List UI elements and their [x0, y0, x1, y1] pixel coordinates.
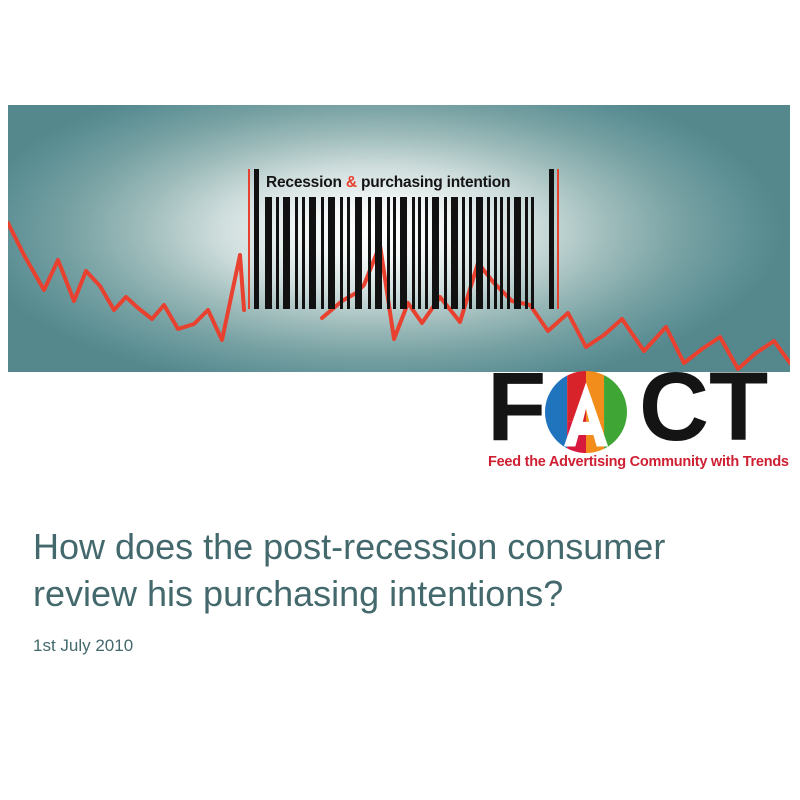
- barcode-left-black-guard: [254, 169, 259, 309]
- barcode-left-red-guard: [248, 169, 250, 309]
- fact-logo: F C: [487, 368, 792, 478]
- fact-tagline: Feed the Advertising Community with Tren…: [488, 454, 793, 470]
- trend-line-left: [8, 223, 244, 340]
- barcode-right-red-guard: [557, 169, 559, 309]
- barcode-caption-text: Recession & purchasing intention: [266, 170, 538, 195]
- fact-letter-f: F: [487, 365, 544, 449]
- barcode-right-black-guard: [549, 169, 554, 309]
- barcode-caption-ampersand: &: [346, 174, 357, 191]
- barcode-caption-prefix: Recession: [266, 174, 346, 191]
- fact-wordmark: F C: [487, 368, 792, 452]
- hero-banner-image: Recession & purchasing intention: [8, 105, 790, 372]
- barcode-bars: [265, 197, 543, 309]
- title-block: How does the post-recession consumer rev…: [33, 523, 763, 657]
- fact-letter-t: T: [709, 365, 766, 449]
- fact-letter-a-colored-circle-icon: [545, 371, 627, 453]
- fact-letter-c: C: [639, 365, 707, 449]
- barcode-graphic: Recession & purchasing intention: [248, 169, 560, 309]
- page-title: How does the post-recession consumer rev…: [33, 523, 763, 617]
- barcode-caption-suffix: purchasing intention: [357, 174, 510, 191]
- slide-date: 1st July 2010: [33, 635, 763, 657]
